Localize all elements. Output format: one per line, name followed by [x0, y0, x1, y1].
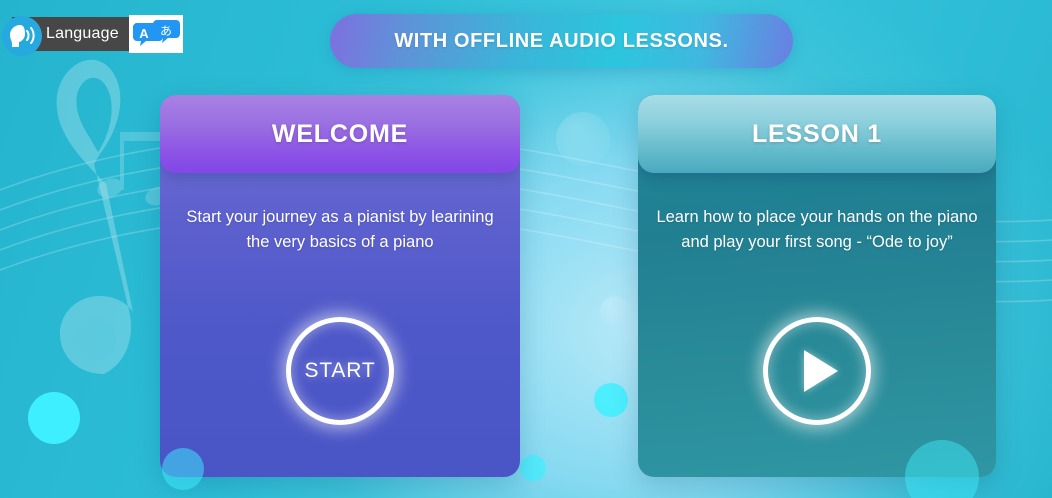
language-widget[interactable]: Language A あ [0, 14, 183, 54]
welcome-card-header: WELCOME [160, 95, 520, 173]
bubble-decoration [28, 392, 80, 444]
language-label: Language [46, 25, 119, 43]
svg-text:あ: あ [160, 24, 172, 38]
lesson-1-card-header: LESSON 1 [638, 95, 996, 173]
lesson-1-card-title: LESSON 1 [752, 120, 882, 149]
play-icon [804, 350, 838, 392]
bubble-decoration [594, 383, 628, 417]
play-button-circle [763, 317, 871, 425]
bubble-decoration [162, 448, 204, 490]
bubble-decoration [520, 455, 546, 481]
banner-text: WITH OFFLINE AUDIO LESSONS. [394, 30, 728, 53]
lesson-1-card[interactable]: LESSON 1 Learn how to place your hands o… [638, 95, 996, 477]
start-button-circle: START [286, 317, 394, 425]
welcome-card-title: WELCOME [272, 120, 408, 149]
welcome-card[interactable]: WELCOME Start your journey as a pianist … [160, 95, 520, 477]
svg-text:A: A [139, 26, 149, 41]
welcome-card-description: Start your journey as a pianist by leari… [174, 205, 506, 255]
start-button[interactable]: START [286, 317, 394, 425]
translate-icon[interactable]: A あ [129, 15, 183, 53]
bubble-decoration [556, 112, 610, 166]
app-screen: Language A あ WITH OFFLINE AUDIO LESSONS.… [0, 0, 1052, 498]
play-button[interactable] [763, 317, 871, 425]
offline-lessons-banner: WITH OFFLINE AUDIO LESSONS. [330, 14, 793, 68]
speaker-head-icon [2, 16, 42, 56]
bubble-decoration [600, 296, 630, 326]
lesson-1-card-description: Learn how to place your hands on the pia… [652, 205, 982, 255]
start-button-label: START [305, 359, 376, 383]
